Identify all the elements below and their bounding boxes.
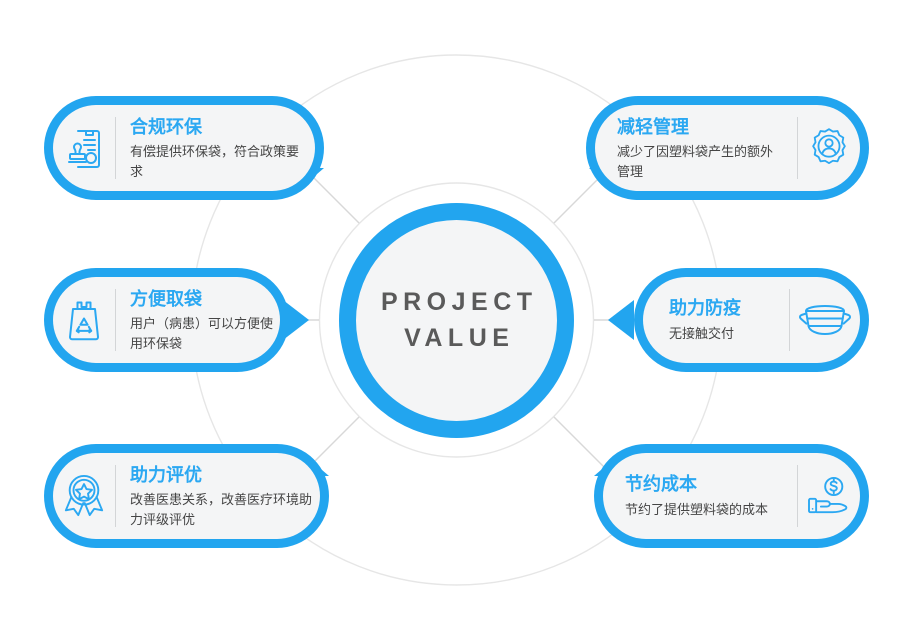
card-description: 减少了因塑料袋产生的额外管理 [617, 142, 783, 181]
center-title-line1: PROJECT [375, 285, 537, 321]
award-medal-icon [53, 473, 115, 519]
face-mask-icon [790, 303, 860, 337]
card-epidemic[interactable]: 助力防疫 无接触交付 [634, 268, 869, 372]
center-hub: PROJECT VALUE [339, 203, 574, 438]
card-compliance[interactable]: 合规环保 有偿提供环保袋，符合政策要求 [44, 96, 324, 200]
card-convenience[interactable]: 方便取袋 用户（病患）可以方便使用环保袋 [44, 268, 289, 372]
card-title: 方便取袋 [130, 287, 274, 313]
center-title-line2: VALUE [399, 321, 515, 357]
card-description: 有偿提供环保袋，符合政策要求 [130, 142, 309, 181]
tail-epidemic [608, 300, 634, 340]
card-description: 无接触交付 [669, 324, 775, 344]
diagram-canvas: PROJECT VALUE 合规环保 有 [0, 0, 913, 634]
card-title: 助力防疫 [669, 296, 775, 322]
document-stamp-icon [53, 126, 115, 170]
card-description: 节约了提供塑料袋的成本 [625, 500, 783, 520]
card-management[interactable]: 减轻管理 减少了因塑料袋产生的额外管理 [586, 96, 869, 200]
card-title: 减轻管理 [617, 115, 783, 141]
card-title: 合规环保 [130, 115, 309, 141]
hand-dollar-icon [798, 476, 860, 516]
gear-user-icon [798, 126, 860, 170]
card-rating[interactable]: 助力评优 改善医患关系，改善医疗环境助力评级评优 [44, 444, 329, 548]
card-description: 改善医患关系，改善医疗环境助力评级评优 [130, 490, 314, 529]
card-description: 用户（病患）可以方便使用环保袋 [130, 314, 274, 353]
card-cost[interactable]: 节约成本 节约了提供塑料袋的成本 [594, 444, 869, 548]
recycle-bag-icon [53, 298, 115, 342]
card-title: 助力评优 [130, 463, 314, 489]
card-title: 节约成本 [625, 472, 783, 498]
